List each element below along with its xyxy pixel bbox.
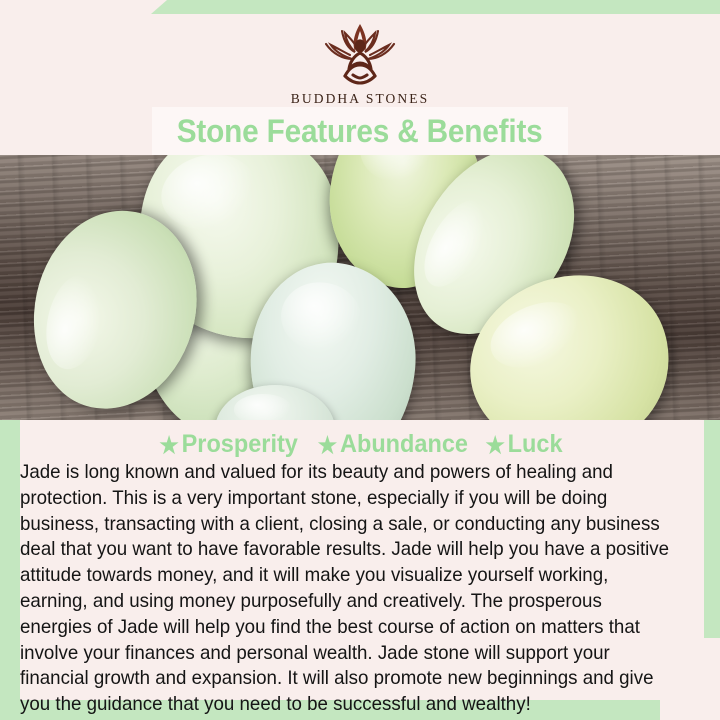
star-icon: ★ — [159, 432, 178, 459]
star-icon: ★ — [485, 432, 504, 459]
decorative-green-top-bar — [151, 0, 720, 14]
keyword-label: Prosperity — [182, 430, 298, 458]
brand-name: BUDDHA STONES — [0, 91, 720, 107]
stone-description: Jade is long known and valued for its be… — [20, 460, 678, 718]
stone-photo: Jade — [0, 155, 720, 420]
keyword-item-abundance: ★Abundance — [318, 430, 468, 459]
lotus-meditation-icon — [304, 18, 416, 90]
keyword-item-prosperity: ★Prosperity — [159, 430, 297, 459]
page-title: Stone Features & Benefits — [177, 115, 543, 147]
brand-logo: BUDDHA STONES — [0, 18, 720, 107]
infographic-page: BUDDHA STONES Stone Features & Benefits … — [0, 0, 720, 720]
title-plate: Stone Features & Benefits — [152, 107, 568, 155]
star-icon: ★ — [318, 432, 337, 459]
keyword-label: Abundance — [340, 430, 468, 458]
keyword-list: ★Prosperity ★Abundance ★Luck — [0, 430, 720, 459]
keyword-label: Luck — [508, 430, 563, 458]
keyword-item-luck: ★Luck — [485, 430, 562, 459]
